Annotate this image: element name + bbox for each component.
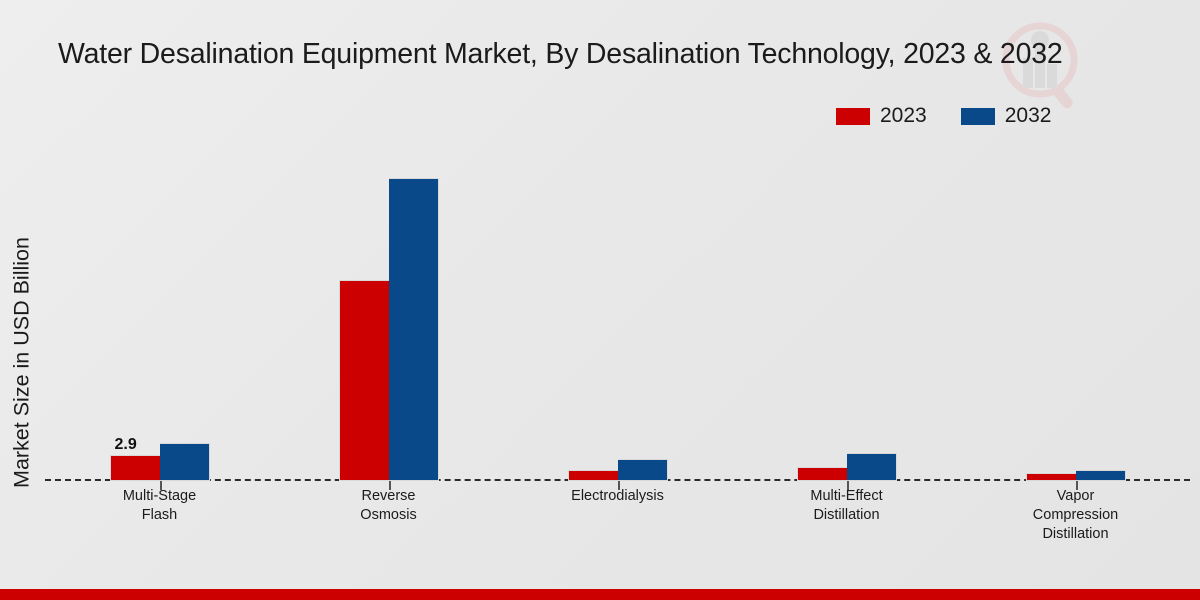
bar-group: Electrodialysis	[503, 140, 732, 481]
y-axis-title: Market Size in USD Billion	[10, 193, 35, 533]
bar-value-label: 2.9	[115, 436, 137, 454]
legend-label-2032: 2032	[1005, 104, 1052, 128]
legend-item-2032[interactable]: 2032	[961, 104, 1052, 128]
bar-2023[interactable]	[339, 280, 389, 481]
category-label: Reverse Osmosis	[360, 487, 416, 525]
bar-2023[interactable]	[568, 470, 618, 481]
bar-2023[interactable]	[797, 467, 847, 481]
chart-legend: 2023 2032	[836, 104, 1051, 128]
bar-pair: 2.9	[110, 443, 210, 481]
legend-swatch-2032	[961, 108, 995, 125]
plot-area: 2.9Multi-Stage FlashReverse OsmosisElect…	[45, 140, 1190, 481]
category-label: Vapor Compression Distillation	[1033, 487, 1118, 544]
bar-2023[interactable]	[1026, 473, 1076, 481]
bar-2032[interactable]	[389, 178, 439, 481]
legend-swatch-2023	[836, 108, 870, 125]
bar-2032[interactable]	[847, 453, 897, 481]
bar-group: 2.9Multi-Stage Flash	[45, 140, 274, 481]
chart-title: Water Desalination Equipment Market, By …	[58, 36, 1178, 73]
bar-2032[interactable]	[160, 443, 210, 481]
legend-label-2023: 2023	[880, 104, 927, 128]
bar-2032[interactable]	[618, 459, 668, 481]
bar-2023[interactable]: 2.9	[110, 455, 160, 481]
category-label: Multi-Effect Distillation	[810, 487, 882, 525]
bar-groups: 2.9Multi-Stage FlashReverse OsmosisElect…	[45, 140, 1190, 481]
bar-pair	[339, 178, 439, 481]
legend-item-2023[interactable]: 2023	[836, 104, 927, 128]
bar-pair	[1026, 470, 1126, 481]
bar-2032[interactable]	[1076, 470, 1126, 481]
bar-group: Vapor Compression Distillation	[961, 140, 1190, 481]
category-label: Electrodialysis	[571, 487, 664, 506]
footer-bar	[0, 589, 1200, 600]
bar-pair	[797, 453, 897, 481]
bar-pair	[568, 459, 668, 481]
bar-group: Multi-Effect Distillation	[732, 140, 961, 481]
category-label: Multi-Stage Flash	[123, 487, 196, 525]
bar-group: Reverse Osmosis	[274, 140, 503, 481]
